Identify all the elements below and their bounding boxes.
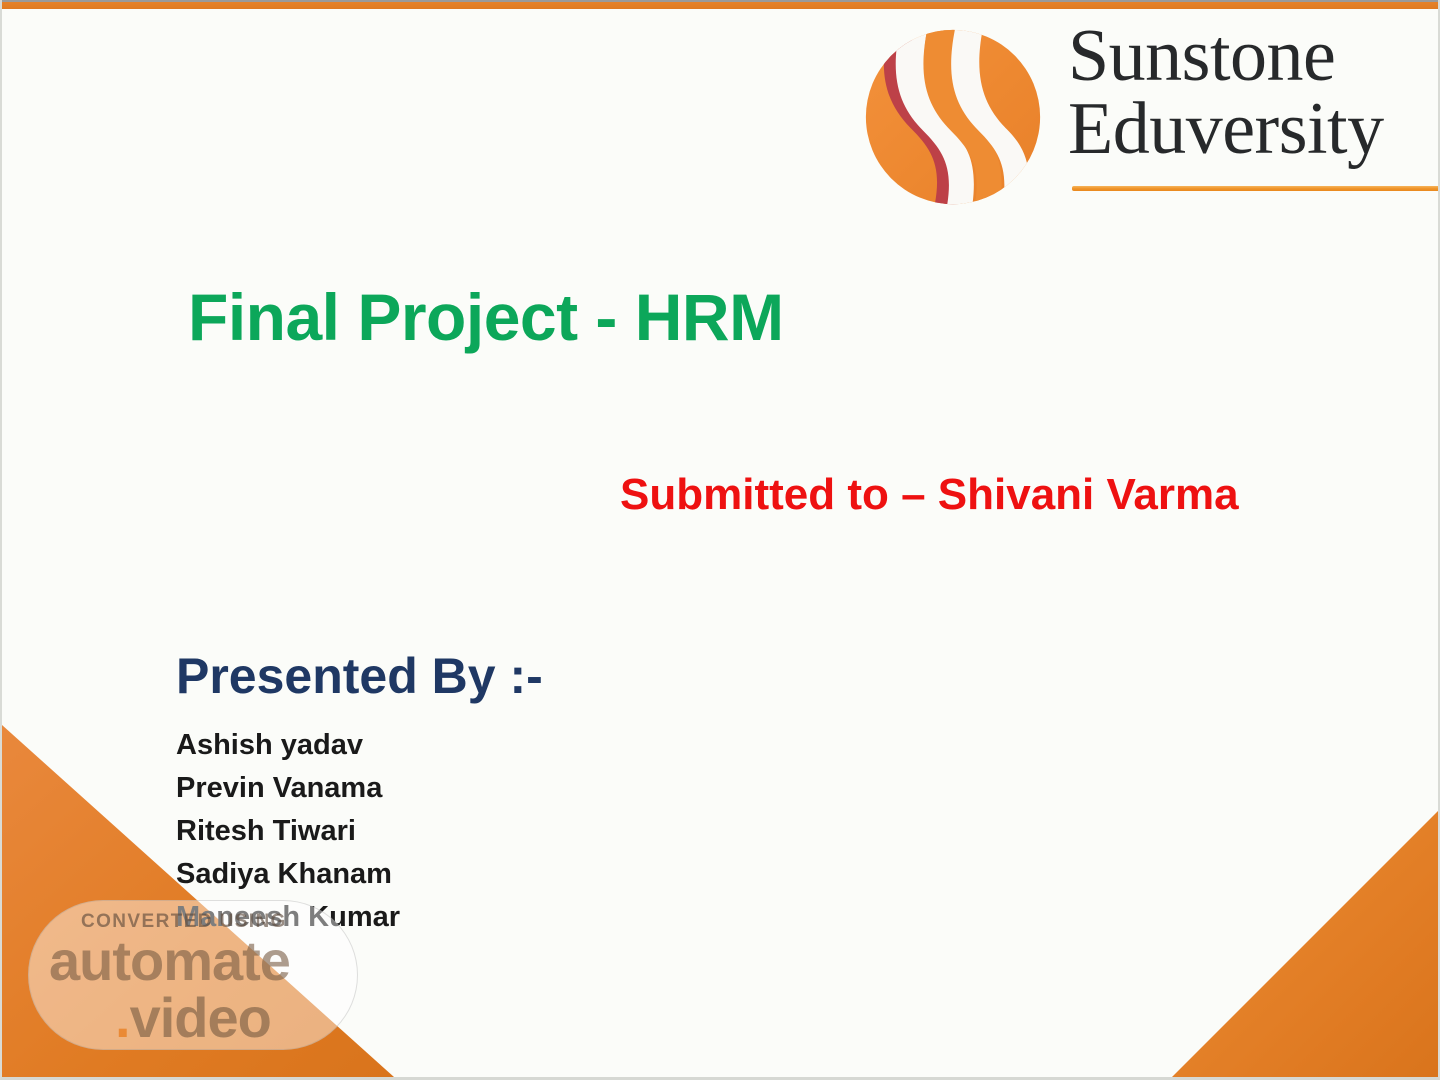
watermark-domain-text: video xyxy=(130,986,271,1049)
brand-name-line-2: Eduversity xyxy=(1068,95,1440,164)
automate-video-watermark: CONVERTED USING automate .video xyxy=(28,900,358,1050)
list-item: Ritesh Tiwari xyxy=(176,810,400,853)
watermark-brand: automate xyxy=(49,928,290,993)
watermark-domain: .video xyxy=(115,985,271,1050)
list-item: Sadiya Khanam xyxy=(176,853,400,896)
watermark-dot: . xyxy=(115,986,130,1049)
page-title: Final Project - HRM xyxy=(188,279,784,355)
brand-underline-rule xyxy=(1072,186,1440,191)
brand-name-line-1: Sunstone xyxy=(1068,22,1440,91)
presentation-slide: Sunstone Eduversity xyxy=(0,0,1440,1080)
bottom-right-orange-triangle xyxy=(1172,811,1438,1077)
sunstone-brand-block: Sunstone Eduversity xyxy=(854,14,1440,226)
brand-wordmark: Sunstone Eduversity xyxy=(1068,22,1440,164)
list-item: Previn Vanama xyxy=(176,767,400,810)
list-item: Ashish yadav xyxy=(176,724,400,767)
top-orange-rule xyxy=(2,0,1440,9)
sunstone-swirl-logo-icon xyxy=(854,18,1052,216)
presented-by-heading: Presented By :- xyxy=(176,647,543,705)
submitted-to-line: Submitted to – Shivani Varma xyxy=(620,470,1239,520)
